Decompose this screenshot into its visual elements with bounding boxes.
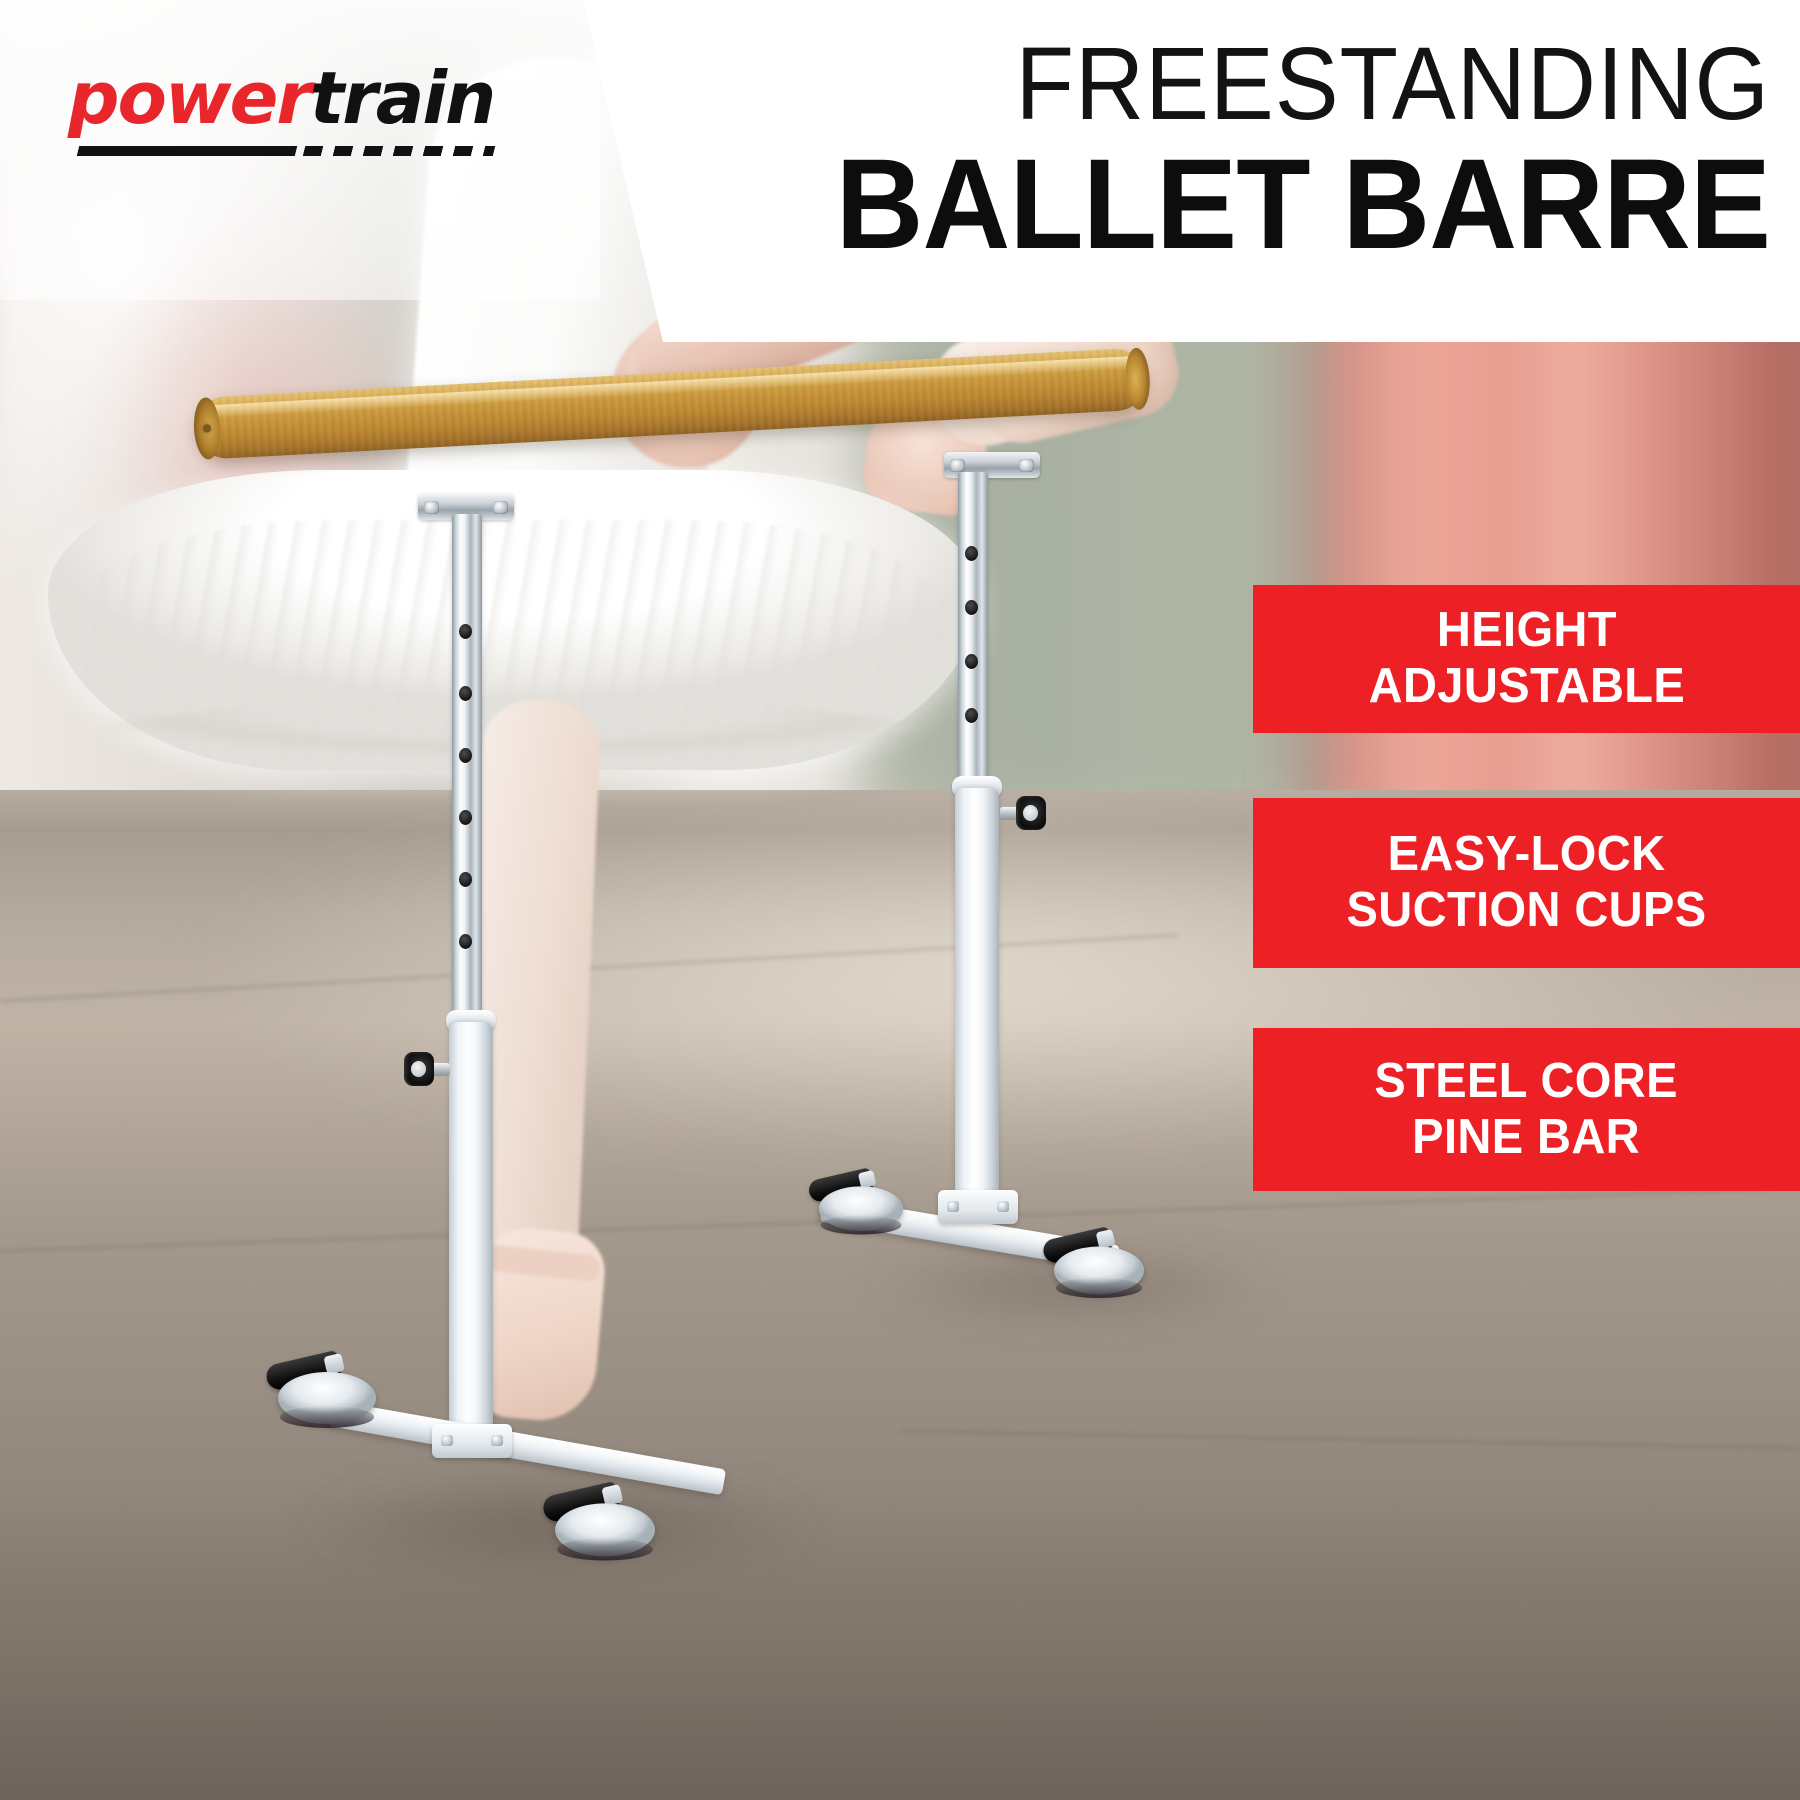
adjustment-knob-left[interactable] [404, 1052, 450, 1086]
height-hole-l5 [459, 872, 472, 887]
knob-cap-right [1016, 796, 1046, 830]
feature-badge-height-adjustable: HEIGHT ADJUSTABLE [1253, 585, 1800, 733]
height-hole-l4 [459, 810, 472, 825]
base-bolt-right-a [947, 1201, 959, 1212]
suction-cup-rim-lf [557, 1538, 653, 1560]
suction-cup-left-rear[interactable] [278, 1372, 376, 1434]
feature-badge-2-line-1: EASY-LOCK [1346, 827, 1706, 883]
base-bolt-right-b [997, 1201, 1009, 1212]
feature-badge-3-line-1: STEEL CORE [1375, 1054, 1679, 1110]
feature-badge-3-line-2: PINE BAR [1375, 1110, 1679, 1166]
feature-badge-1-line-2: ADJUSTABLE [1368, 659, 1685, 715]
knob-cap-left [404, 1052, 434, 1086]
feature-badge-text-1: HEIGHT ADJUSTABLE [1368, 603, 1685, 715]
adjustment-knob-right[interactable] [1000, 796, 1046, 830]
feature-badge-2-line-2: SUCTION CUPS [1346, 883, 1706, 939]
height-hole-l6 [459, 934, 472, 949]
suction-cup-right-front[interactable] [1054, 1246, 1144, 1303]
bracket-bolt-left-b [493, 501, 508, 514]
base-bolt-left-b [491, 1435, 503, 1446]
wooden-ballet-barre [194, 347, 1148, 460]
height-hole-r2 [965, 600, 978, 615]
suction-cup-rim-rr [821, 1216, 902, 1235]
height-hole-l2 [459, 686, 472, 701]
suction-cup-left-front[interactable] [555, 1503, 655, 1566]
telescopic-chrome-post-right [958, 472, 988, 788]
base-bar-left-front [328, 1400, 726, 1495]
product-marketing-image: powertrain FREESTANDING BALLET BARRE HEI… [0, 0, 1800, 1800]
feature-badge-text-2: EASY-LOCK SUCTION CUPS [1346, 827, 1706, 939]
height-hole-l1 [459, 624, 472, 639]
outer-tube-left [449, 1022, 493, 1442]
base-bolt-left-a [441, 1435, 453, 1446]
bracket-bolt-left-a [424, 501, 439, 514]
base-plate-right [938, 1190, 1018, 1224]
height-hole-r3 [965, 654, 978, 669]
suction-cup-rim-lr [280, 1406, 374, 1428]
feature-badge-text-3: STEEL CORE PINE BAR [1375, 1054, 1679, 1166]
suction-cup-right-rear[interactable] [819, 1186, 903, 1239]
feature-badge-steel-core-pine-bar: STEEL CORE PINE BAR [1253, 1028, 1800, 1191]
feature-badge-easy-lock-suction-cups: EASY-LOCK SUCTION CUPS [1253, 798, 1800, 968]
feature-badge-1-line-1: HEIGHT [1368, 603, 1685, 659]
height-hole-r4 [965, 708, 978, 723]
height-hole-r1 [965, 546, 978, 561]
height-hole-l3 [459, 748, 472, 763]
feature-badge-list: HEIGHT ADJUSTABLE EASY-LOCK SUCTION CUPS… [1253, 585, 1800, 1191]
bracket-bolt-right-a [950, 459, 965, 472]
suction-cup-rim-rf [1056, 1278, 1142, 1298]
telescopic-chrome-post-left [452, 514, 482, 1024]
base-plate-left [432, 1424, 512, 1458]
bracket-bolt-right-b [1019, 459, 1034, 472]
outer-tube-right [955, 788, 999, 1218]
